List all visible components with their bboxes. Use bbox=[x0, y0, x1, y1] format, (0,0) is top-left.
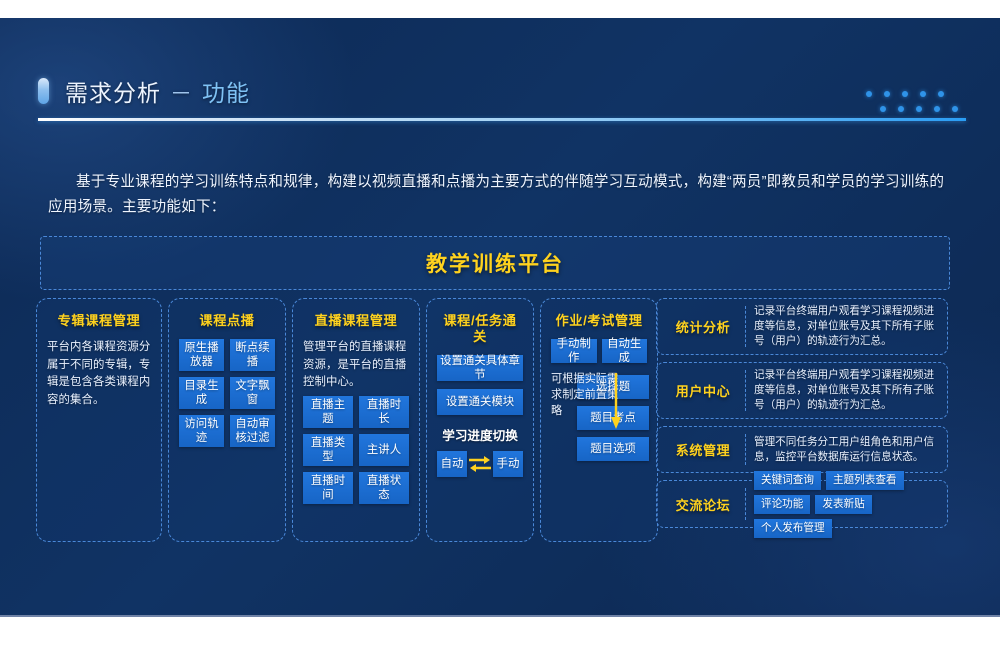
chip-item[interactable]: 设置通关具体章节 bbox=[437, 355, 523, 381]
dot-row-bottom bbox=[880, 103, 958, 114]
chip-item[interactable]: 手动制作 bbox=[551, 339, 597, 363]
chip-item[interactable]: 原生播放器 bbox=[179, 339, 224, 371]
chip-item[interactable]: 发表新贴 bbox=[815, 495, 871, 514]
slide-canvas: 需求分析－功能 基于专业课程的学习训练特点和规律，构建以视频直播和点播为主要方式… bbox=[0, 18, 1000, 617]
forum-chip-group: 关键词查询 主题列表查看 评论功能 发表新贴 个人发布管理 bbox=[754, 471, 939, 538]
chip-item[interactable]: 断点续播 bbox=[230, 339, 275, 371]
chip-item[interactable]: 自动生成 bbox=[602, 339, 648, 363]
dot bbox=[920, 91, 926, 97]
dot bbox=[916, 106, 922, 112]
chip-item[interactable]: 个人发布管理 bbox=[754, 519, 832, 538]
column-homework-exam-management[interactable]: 作业/考试管理 手动制作 自动生成 可根据实际需求制定前置策略 选择题 题目考点… bbox=[540, 298, 658, 542]
dot bbox=[880, 106, 886, 112]
header-title-row: 需求分析－功能 bbox=[38, 70, 966, 112]
chip-item[interactable]: 直播状态 bbox=[359, 472, 409, 504]
column-course-task-clearance[interactable]: 课程/任务通关 设置通关具体章节 设置通关模块 学习进度切换 自动 手动 bbox=[426, 298, 534, 542]
panel-row-divider bbox=[745, 306, 746, 347]
column-chip-grid: 原生播放器 断点续播 目录生成 文字飘窗 访问轨迹 自动审核过滤 bbox=[179, 339, 275, 447]
decorative-dots bbox=[866, 88, 958, 114]
column-description: 管理平台的直播课程资源，是平台的直播控制中心。 bbox=[303, 339, 409, 392]
column-chip-grid: 直播主题 直播时长 直播类型 主讲人 直播时间 直播状态 bbox=[303, 396, 409, 504]
exam-flow: 可根据实际需求制定前置策略 选择题 题目考点 题目选项 bbox=[551, 371, 647, 461]
chip-item[interactable]: 自动审核过滤 bbox=[230, 415, 275, 447]
progress-switch-label: 学习进度切换 bbox=[437, 425, 523, 444]
slide-header: 需求分析－功能 bbox=[38, 70, 966, 128]
panel-row-forum[interactable]: 交流论坛 关键词查询 主题列表查看 评论功能 发表新贴 个人发布管理 bbox=[656, 480, 948, 528]
panel-row-label: 系统管理 bbox=[665, 440, 741, 459]
chip-item[interactable]: 访问轨迹 bbox=[179, 415, 224, 447]
chip-item[interactable]: 目录生成 bbox=[179, 377, 224, 409]
chip-item[interactable]: 文字飘窗 bbox=[230, 377, 275, 409]
chip-item[interactable]: 评论功能 bbox=[754, 495, 810, 514]
progress-switch: 自动 手动 bbox=[437, 451, 523, 477]
dot bbox=[884, 91, 890, 97]
column-live-course-management[interactable]: 直播课程管理 管理平台的直播课程资源，是平台的直播控制中心。 直播主题 直播时长… bbox=[292, 298, 420, 542]
column-title: 课程点播 bbox=[179, 313, 275, 329]
column-title: 作业/考试管理 bbox=[551, 313, 647, 329]
chip-item[interactable]: 直播时间 bbox=[303, 472, 353, 504]
switch-option-auto[interactable]: 自动 bbox=[437, 451, 467, 477]
dot bbox=[902, 91, 908, 97]
panel-row-divider bbox=[745, 488, 746, 520]
creation-mode-chips: 手动制作 自动生成 bbox=[551, 339, 647, 363]
panel-row-divider bbox=[745, 434, 746, 465]
feature-columns: 专辑课程管理 平台内各课程资源分属于不同的专辑，专辑是包含各类课程内容的集合。 … bbox=[36, 298, 658, 542]
panel-row-user-center[interactable]: 用户中心 记录平台终端用户观看学习课程视频进度等信息，对单位账号及其下所有子账号… bbox=[656, 362, 948, 419]
panel-row-system-management[interactable]: 系统管理 管理不同任务分工用户组角色和用户信息，监控平台数据库运行信息状态。 bbox=[656, 426, 948, 473]
panel-row-divider bbox=[745, 370, 746, 411]
intro-paragraph: 基于专业课程的学习训练特点和规律，构建以视频直播和点播为主要方式的伴随学习互动模… bbox=[48, 170, 954, 220]
chip-item[interactable]: 关键词查询 bbox=[754, 471, 821, 490]
page-title: 需求分析－功能 bbox=[65, 74, 250, 108]
dot bbox=[898, 106, 904, 112]
dot-row-top bbox=[866, 88, 958, 99]
page-subtitle: 功能 bbox=[202, 80, 250, 106]
panel-row-statistics[interactable]: 统计分析 记录平台终端用户观看学习课程视频进度等信息，对单位账号及其下所有子账号… bbox=[656, 298, 948, 355]
panel-row-description: 管理不同任务分工用户组角色和用户信息，监控平台数据库运行信息状态。 bbox=[754, 435, 939, 465]
panel-row-description: 记录平台终端用户观看学习课程视频进度等信息，对单位账号及其下所有子账号（用户）的… bbox=[754, 304, 939, 349]
chip-item[interactable]: 直播时长 bbox=[359, 396, 409, 428]
chip-item[interactable]: 主题列表查看 bbox=[826, 471, 904, 490]
down-arrow-icon bbox=[609, 373, 621, 433]
column-title: 专辑课程管理 bbox=[47, 313, 151, 329]
dot bbox=[934, 106, 940, 112]
header-underline bbox=[38, 118, 966, 121]
platform-banner: 教学训练平台 bbox=[40, 236, 950, 290]
intro-paragraph-text: 基于专业课程的学习训练特点和规律，构建以视频直播和点播为主要方式的伴随学习互动模… bbox=[48, 174, 944, 215]
chip-item[interactable]: 直播主题 bbox=[303, 396, 353, 428]
column-title: 直播课程管理 bbox=[303, 313, 409, 329]
dot bbox=[952, 106, 958, 112]
dot bbox=[866, 91, 872, 97]
column-course-on-demand[interactable]: 课程点播 原生播放器 断点续播 目录生成 文字飘窗 访问轨迹 自动审核过滤 bbox=[168, 298, 286, 542]
title-separator-dash: － bbox=[170, 81, 193, 106]
panel-row-description: 记录平台终端用户观看学习课程视频进度等信息，对单位账号及其下所有子账号（用户）的… bbox=[754, 368, 939, 413]
column-description: 平台内各课程资源分属于不同的专辑，专辑是包含各类课程内容的集合。 bbox=[47, 339, 151, 409]
pill-bullet-icon bbox=[38, 78, 49, 104]
column-album-course-management[interactable]: 专辑课程管理 平台内各课程资源分属于不同的专辑，专辑是包含各类课程内容的集合。 bbox=[36, 298, 162, 542]
column-title: 课程/任务通关 bbox=[437, 313, 523, 345]
right-feature-panel: 统计分析 记录平台终端用户观看学习课程视频进度等信息，对单位账号及其下所有子账号… bbox=[656, 298, 948, 535]
page-title-main: 需求分析 bbox=[65, 80, 161, 106]
chip-item[interactable]: 设置通关模块 bbox=[437, 389, 523, 415]
panel-row-label: 用户中心 bbox=[665, 381, 741, 400]
chip-item[interactable]: 主讲人 bbox=[359, 434, 409, 466]
chip-item[interactable]: 题目选项 bbox=[577, 437, 649, 461]
bidirectional-arrows-icon bbox=[467, 453, 493, 475]
dot bbox=[938, 91, 944, 97]
platform-banner-title: 教学训练平台 bbox=[426, 248, 564, 278]
panel-row-label: 交流论坛 bbox=[665, 495, 741, 514]
chip-item[interactable]: 直播类型 bbox=[303, 434, 353, 466]
switch-option-manual[interactable]: 手动 bbox=[493, 451, 523, 477]
panel-row-label: 统计分析 bbox=[665, 317, 741, 336]
